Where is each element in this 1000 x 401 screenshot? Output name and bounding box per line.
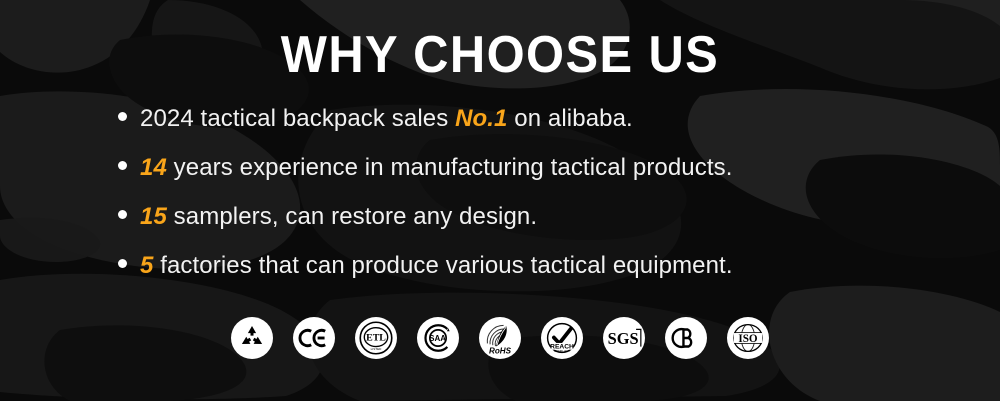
- rohs-icon: RoHS: [482, 320, 518, 356]
- svg-text:SAA: SAA: [429, 334, 446, 343]
- saa-icon: SAA: [421, 321, 455, 355]
- certification-badge-row: ETL LISTED SAA: [0, 317, 1000, 359]
- bullet-dot-icon: [118, 259, 127, 268]
- ce-icon: [298, 325, 330, 351]
- list-item-text: 2024 tactical backpack sales No.1 on ali…: [140, 104, 633, 134]
- svg-text:ISO: ISO: [738, 333, 758, 345]
- svg-text:LISTED: LISTED: [371, 347, 382, 351]
- svg-text:RoHS: RoHS: [489, 346, 512, 355]
- badge-sgs: SGS: [603, 317, 645, 359]
- banner-content: WHY CHOOSE US 2024 tactical backpack sal…: [0, 0, 1000, 401]
- list-item: 15 samplers, can restore any design.: [118, 202, 978, 251]
- badge-rohs: RoHS: [479, 317, 521, 359]
- list-item-text: 15 samplers, can restore any design.: [140, 202, 537, 232]
- feature-list: 2024 tactical backpack sales No.1 on ali…: [118, 104, 978, 300]
- why-choose-us-banner: WHY CHOOSE US 2024 tactical backpack sal…: [0, 0, 1000, 401]
- text-segment: factories that can produce various tacti…: [153, 252, 732, 279]
- bullet-dot-icon: [118, 210, 127, 219]
- list-item: 5 factories that can produce various tac…: [118, 251, 978, 300]
- list-item: 14 years experience in manufacturing tac…: [118, 153, 978, 202]
- badge-recycle: [231, 317, 273, 359]
- badge-ce: [293, 317, 335, 359]
- list-item-text: 5 factories that can produce various tac…: [140, 251, 733, 281]
- text-segment: years experience in manufacturing tactic…: [167, 154, 733, 181]
- recycle-icon: [237, 323, 267, 353]
- list-item: 2024 tactical backpack sales No.1 on ali…: [118, 104, 978, 153]
- badge-saa: SAA: [417, 317, 459, 359]
- highlight-segment: No.1: [455, 105, 507, 132]
- highlight-segment: 5: [140, 252, 153, 279]
- sgs-icon: SGS: [605, 327, 643, 349]
- badge-reach: REACH COMPLIANT: [541, 317, 583, 359]
- bullet-dot-icon: [118, 161, 127, 170]
- svg-text:SGS: SGS: [608, 329, 639, 348]
- text-segment: on alibaba.: [508, 105, 633, 132]
- list-item-text: 14 years experience in manufacturing tac…: [140, 153, 733, 183]
- page-title: WHY CHOOSE US: [30, 26, 970, 84]
- cb-icon: [669, 325, 703, 351]
- text-segment: 2024 tactical backpack sales: [140, 105, 455, 132]
- badge-cb: [665, 317, 707, 359]
- highlight-segment: 15: [140, 203, 167, 230]
- svg-text:ETL: ETL: [366, 332, 386, 343]
- badge-etl: ETL LISTED: [355, 317, 397, 359]
- badge-iso: ISO: [727, 317, 769, 359]
- bullet-dot-icon: [118, 112, 127, 121]
- iso-icon: ISO: [730, 321, 766, 355]
- text-segment: samplers, can restore any design.: [167, 203, 537, 230]
- svg-text:COMPLIANT: COMPLIANT: [554, 349, 570, 353]
- highlight-segment: 14: [140, 154, 167, 181]
- reach-icon: REACH COMPLIANT: [544, 320, 580, 356]
- etl-icon: ETL LISTED: [358, 320, 394, 356]
